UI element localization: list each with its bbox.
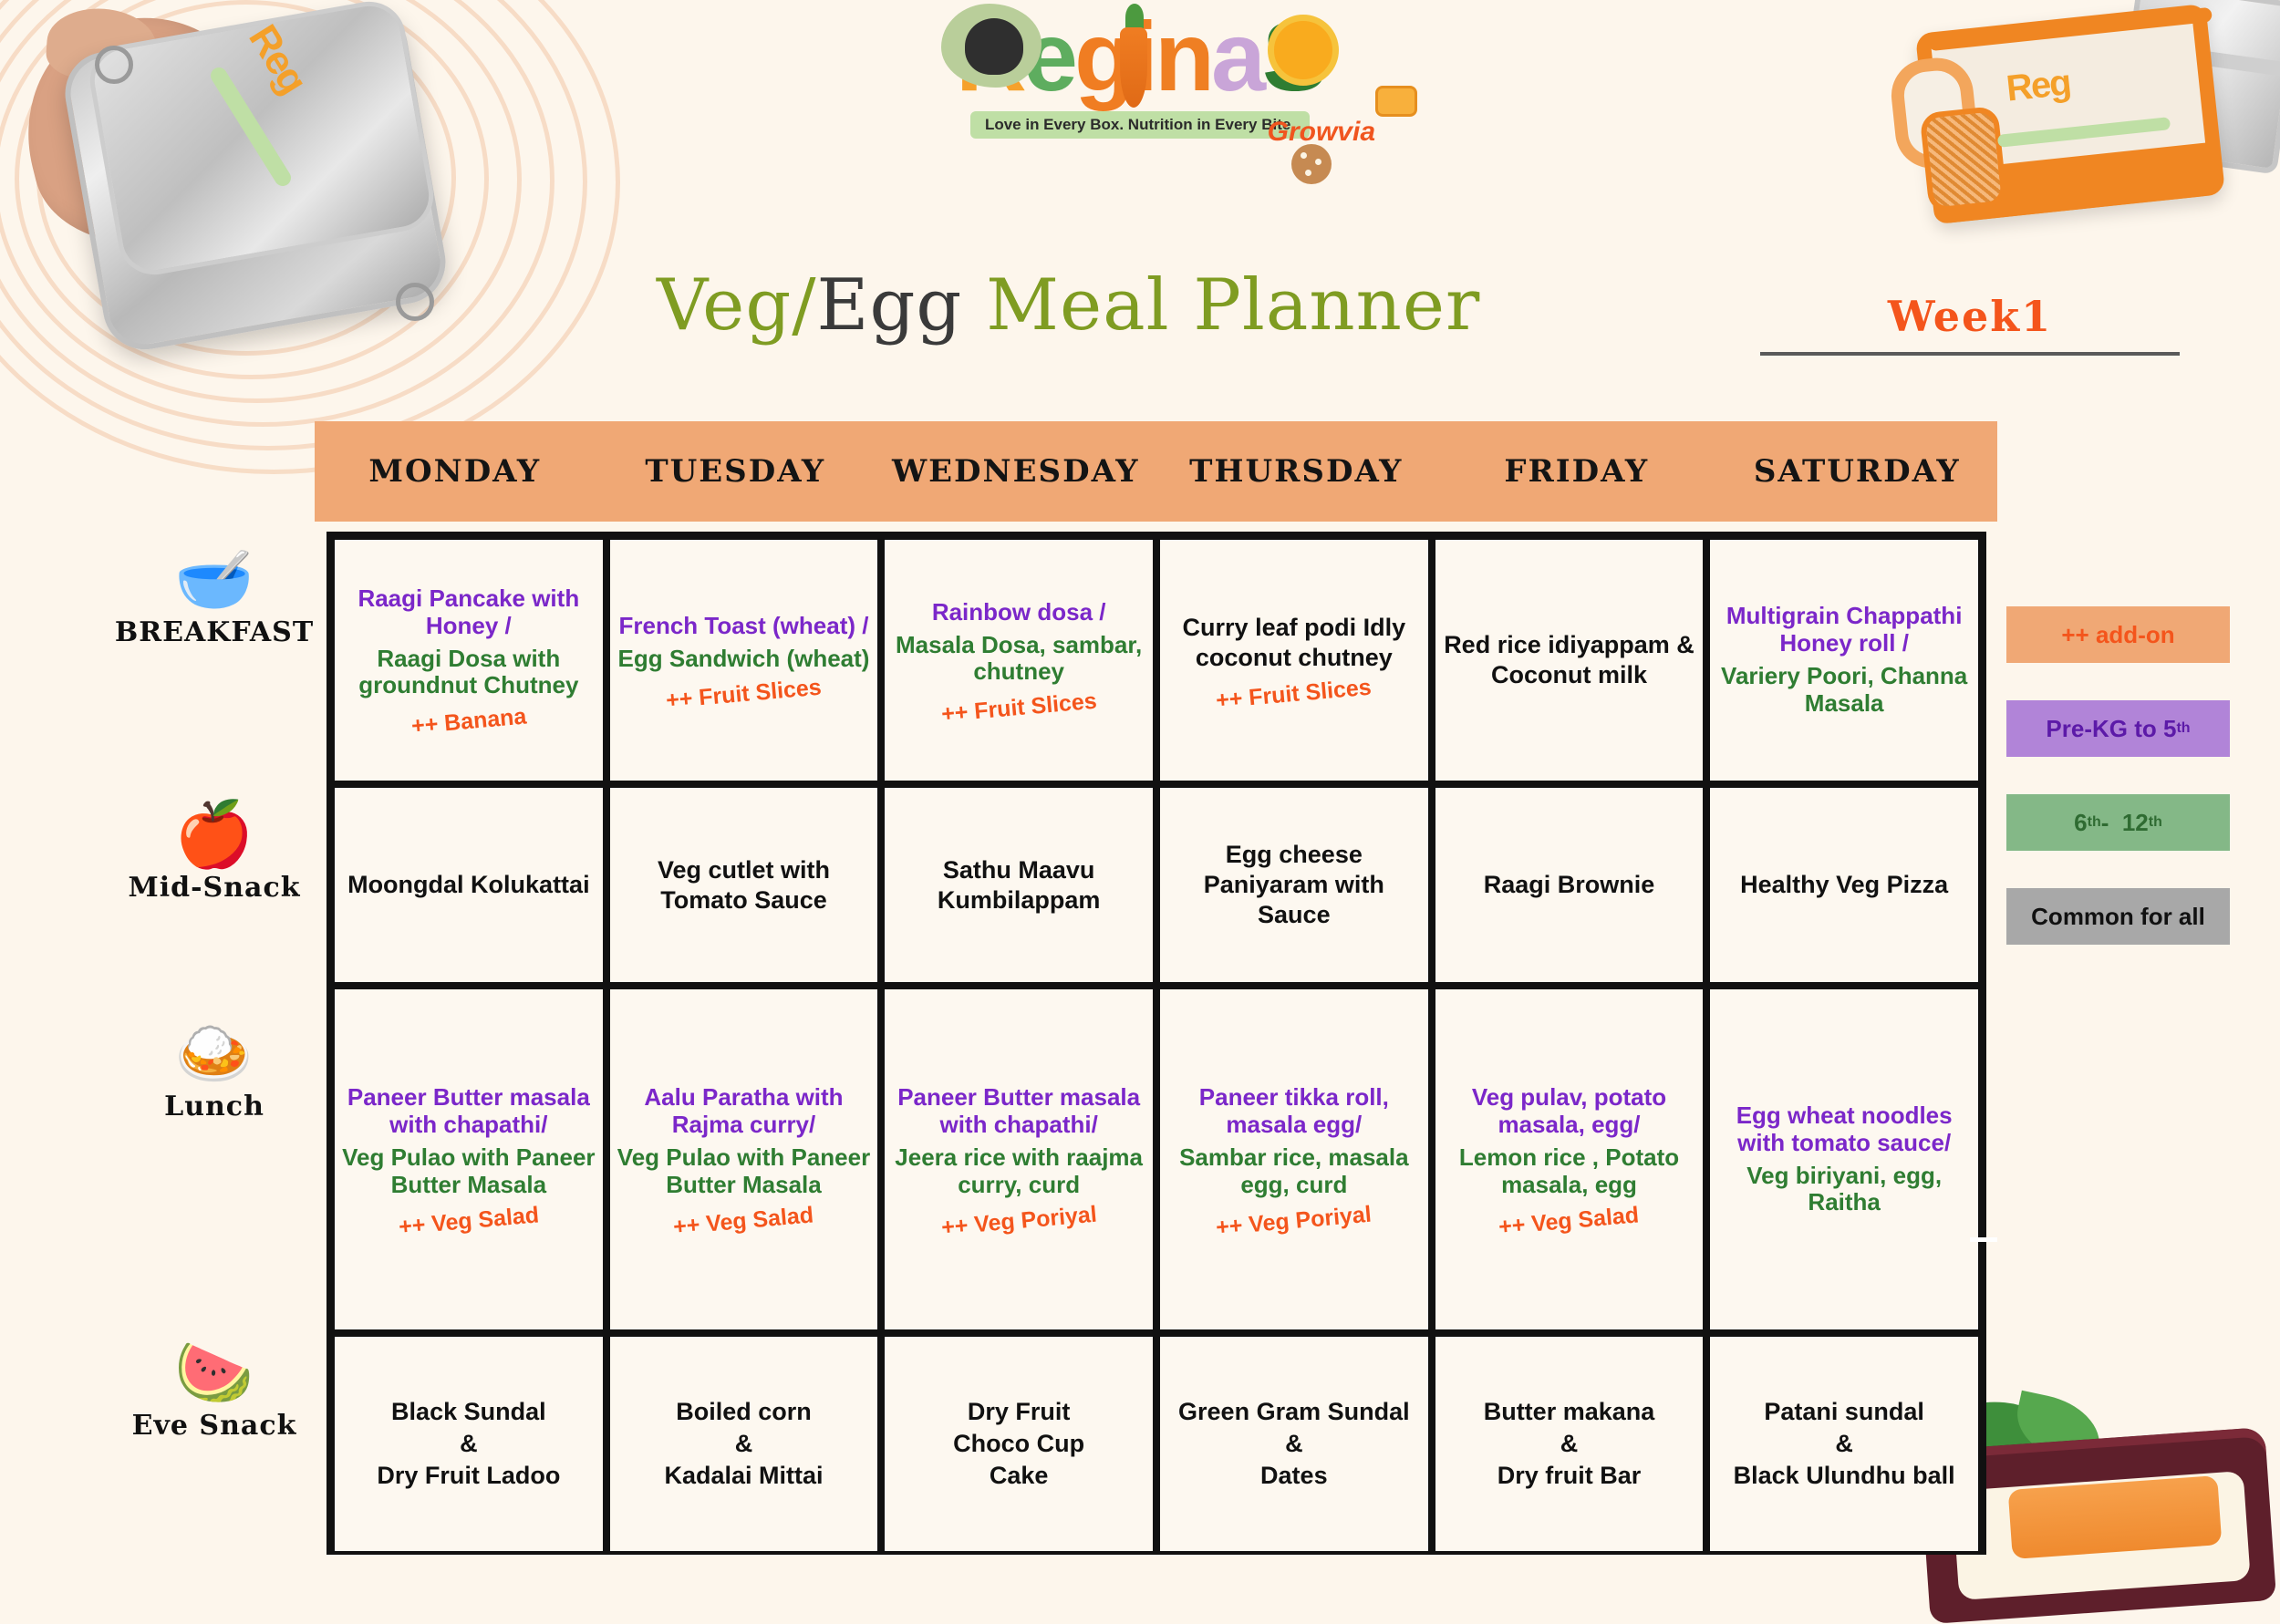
snack-line-2: &: [1560, 1428, 1579, 1460]
meal-addon: ++ Banana: [410, 704, 527, 740]
snack-line-3: Dry Fruit Ladoo: [377, 1460, 560, 1492]
cell-midsnack-thursday[interactable]: Egg cheese Paniyaram with Sauce: [1156, 784, 1432, 986]
legend-panel: ++ add-on Pre-KG to 5th 6th - 12th Commo…: [2006, 606, 2230, 982]
orange-slice-icon: [1268, 15, 1339, 86]
hand-holding-box: [3, 0, 279, 271]
snack-line-3: Cake: [990, 1460, 1049, 1492]
day-header-tuesday: TUESDAY: [596, 421, 876, 522]
steel-lunchbox-lid: [85, 0, 440, 280]
bag-mesh-pocket: [1919, 106, 2007, 213]
title-veg: Veg/: [657, 264, 817, 347]
cell-lunch-thursday[interactable]: Paneer tikka roll, masala egg/Sambar ric…: [1156, 986, 1432, 1333]
meal-common: Moongdal Kolukattai: [347, 870, 590, 900]
snack-line-1: Patani sundal: [1764, 1396, 1924, 1428]
cell-lunch-tuesday[interactable]: Aalu Paratha with Rajma curry/Veg Pulao …: [606, 986, 882, 1333]
cell-evesnack-friday[interactable]: Butter makana&Dry fruit Bar: [1432, 1333, 1707, 1555]
cell-midsnack-tuesday[interactable]: Veg cutlet with Tomato Sauce: [606, 784, 882, 986]
bowl-food: [2008, 1475, 2223, 1559]
snack-line-3: Dates: [1260, 1460, 1328, 1492]
cell-breakfast-thursday[interactable]: Curry leaf podi Idly coconut chutney++ F…: [1156, 536, 1432, 784]
snack-line-1: Dry Fruit: [968, 1396, 1071, 1428]
week-underline: [1760, 352, 2180, 356]
meal-option-a: Veg pulav, potato masala, egg/: [1441, 1084, 1698, 1139]
meal-option-b: Masala Dosa, sambar, chutney: [890, 632, 1147, 687]
lunch-plate-icon: 🍛: [109, 1021, 319, 1085]
meal-option-b: Lemon rice , Potato masala, egg: [1441, 1144, 1698, 1199]
row-label-breakfast: 🥣BREAKFAST: [109, 547, 319, 648]
meal-common: Sathu Maavu Kumbilappam: [890, 855, 1147, 915]
day-header-saturday: SATURDAY: [1717, 421, 1998, 522]
cell-evesnack-thursday[interactable]: Green Gram Sundal&Dates: [1156, 1333, 1432, 1555]
steel-lunchbox-body: [58, 0, 452, 356]
legend-item-6to12: 6th - 12th: [2006, 794, 2230, 851]
meal-option-a: Rainbow dosa /: [932, 599, 1106, 626]
row-label-mid-snack: 🍎Mid-Snack: [109, 802, 319, 904]
meal-option-b: Jeera rice with raajma curry, curd: [890, 1144, 1147, 1199]
snack-line-2: &: [1285, 1428, 1303, 1460]
fruits-icon: 🍉: [109, 1340, 319, 1404]
carrot-icon: [1120, 27, 1147, 108]
meal-common: Raagi Brownie: [1484, 870, 1655, 900]
breakfast-bowl-icon: 🥣: [109, 547, 319, 611]
row-label-eve-snack: 🍉Eve Snack: [109, 1340, 319, 1442]
meal-option-b: Variery Poori, Channa Masala: [1715, 663, 1973, 718]
family-blob-icon: [941, 4, 1042, 88]
snack-line-1: Butter makana: [1484, 1396, 1655, 1428]
snack-line-3: Kadalai Mittai: [664, 1460, 823, 1492]
row-label-text: Mid-Snack: [109, 872, 319, 904]
cell-breakfast-wednesday[interactable]: Rainbow dosa /Masala Dosa, sambar, chutn…: [881, 536, 1156, 784]
meal-option-a: Raagi Pancake with Honey /: [340, 585, 597, 640]
cell-lunch-monday[interactable]: Paneer Butter masala with chapathi/Veg P…: [331, 986, 606, 1333]
snack-line-1: Black Sundal: [391, 1396, 546, 1428]
cell-lunch-friday[interactable]: Veg pulav, potato masala, egg/Lemon rice…: [1432, 986, 1707, 1333]
meal-addon: ++ Fruit Slices: [940, 688, 1098, 729]
meal-common: Egg cheese Paniyaram with Sauce: [1166, 840, 1423, 930]
meal-option-b: Egg Sandwich (wheat): [618, 646, 870, 673]
week-selector[interactable]: Week1: [1760, 292, 2180, 356]
leaf-decor-2: [2009, 1391, 2108, 1468]
week-label: Week1: [1760, 292, 2180, 341]
legend-item-prekg: Pre-KG to 5th: [2006, 700, 2230, 757]
snack-line-3: Black Ulundhu ball: [1734, 1460, 1955, 1492]
meal-option-a: Paneer tikka roll, masala egg/: [1166, 1084, 1423, 1139]
legend-item-addon: ++ add-on: [2006, 606, 2230, 663]
snack-line-2: &: [735, 1428, 753, 1460]
meal-addon: ++ Veg Poriyal: [1215, 1201, 1373, 1241]
steel-tiffin: [2114, 0, 2280, 175]
cell-evesnack-wednesday[interactable]: Dry FruitChoco CupCake: [881, 1333, 1156, 1555]
meal-common: Curry leaf podi Idly coconut chutney: [1166, 613, 1423, 673]
meal-addon: ++ Veg Salad: [1498, 1202, 1640, 1240]
cell-breakfast-monday[interactable]: Raagi Pancake with Honey /Raagi Dosa wit…: [331, 536, 606, 784]
cell-breakfast-saturday[interactable]: Multigrain Chappathi Honey roll /Variery…: [1706, 536, 1982, 784]
row-label-text: Eve Snack: [109, 1410, 319, 1442]
cell-midsnack-friday[interactable]: Raagi Brownie: [1432, 784, 1707, 986]
bag-zipper: [1928, 7, 2213, 52]
snack-line-1: Green Gram Sundal: [1178, 1396, 1410, 1428]
cell-lunch-wednesday[interactable]: Paneer Butter masala with chapathi/Jeera…: [881, 986, 1156, 1333]
cell-midsnack-saturday[interactable]: Healthy Veg Pizza: [1706, 784, 1982, 986]
box-tagline-strip: [208, 65, 295, 190]
bag-handle: [1888, 55, 1981, 172]
day-header-friday: FRIDAY: [1436, 421, 1717, 522]
day-header-band: MONDAYTUESDAYWEDNESDAYTHURSDAYFRIDAYSATU…: [315, 421, 1997, 522]
bag-bottom-panel: [1930, 142, 2216, 224]
meal-addon: ++ Veg Poriyal: [940, 1201, 1098, 1241]
snack-line-2: &: [460, 1428, 478, 1460]
legend-item-common: Common for all: [2006, 888, 2230, 945]
meal-option-b: Raagi Dosa with groundnut Chutney: [340, 646, 597, 700]
meal-common: Healthy Veg Pizza: [1740, 870, 1948, 900]
cell-midsnack-monday[interactable]: Moongdal Kolukattai: [331, 784, 606, 986]
bag-tagline-strip: [1997, 117, 2171, 148]
meal-option-a: French Toast (wheat) /: [618, 613, 868, 640]
box-brand-logo: Reg: [143, 19, 376, 264]
title-egg: Egg: [817, 264, 963, 347]
snack-line-2: &: [1835, 1428, 1853, 1460]
page-title: Veg/Egg Meal Planner: [657, 264, 1480, 347]
cell-evesnack-monday[interactable]: Black Sundal&Dry Fruit Ladoo: [331, 1333, 606, 1555]
cell-evesnack-tuesday[interactable]: Boiled corn&Kadalai Mittai: [606, 1333, 882, 1555]
brand-logo: ReginaS Growvia Love in Every Box. Nutri…: [857, 7, 1423, 139]
meal-option-a: Aalu Paratha with Rajma curry/: [616, 1084, 873, 1139]
meal-common: Veg cutlet with Tomato Sauce: [616, 855, 873, 915]
row-label-text: Lunch: [109, 1091, 319, 1122]
lunch-bag-photo: Reg: [1888, 0, 2271, 264]
cell-evesnack-saturday[interactable]: Patani sundal&Black Ulundhu ball: [1706, 1333, 1982, 1555]
bowl-inner: [1952, 1471, 2251, 1600]
meal-addon: ++ Veg Salad: [672, 1202, 814, 1240]
cell-lunch-saturday[interactable]: Egg wheat noodles with tomato sauce/Veg …: [1706, 986, 1982, 1333]
meal-option-b: Sambar rice, masala egg, curd: [1166, 1144, 1423, 1199]
meal-option-a: Egg wheat noodles with tomato sauce/: [1715, 1102, 1973, 1157]
cell-breakfast-tuesday[interactable]: French Toast (wheat) /Egg Sandwich (whea…: [606, 536, 882, 784]
day-header-monday: MONDAY: [315, 421, 596, 522]
bag-brand-logo: Reg: [2005, 62, 2072, 109]
meal-addon: ++ Veg Salad: [398, 1202, 540, 1240]
lunch-bag-apple-icon: 🍎: [109, 802, 319, 866]
mini-lunchbox-icon: [1375, 86, 1417, 117]
meal-option-a: Multigrain Chappathi Honey roll /: [1715, 603, 1973, 657]
box-clasp-left: [95, 46, 133, 84]
legend-connector-dash: [1970, 1237, 1997, 1242]
meal-option-a: Paneer Butter masala with chapathi/: [340, 1084, 597, 1139]
meal-option-b: Veg Pulao with Paneer Butter Masala: [340, 1144, 597, 1199]
meal-common: Red rice idiyappam & Coconut milk: [1441, 630, 1698, 690]
box-clasp-right: [396, 283, 434, 321]
row-label-lunch: 🍛Lunch: [109, 1021, 319, 1122]
meal-addon: ++ Fruit Slices: [665, 675, 823, 715]
lunchbox-photo: Reg: [27, 9, 456, 410]
day-header-wednesday: WEDNESDAY: [876, 421, 1156, 522]
day-header-thursday: THURSDAY: [1156, 421, 1437, 522]
cell-midsnack-wednesday[interactable]: Sathu Maavu Kumbilappam: [881, 784, 1156, 986]
meal-option-b: Veg Pulao with Paneer Butter Masala: [616, 1144, 873, 1199]
bag-body: [1915, 4, 2225, 224]
meal-option-a: Paneer Butter masala with chapathi/: [890, 1084, 1147, 1139]
meal-addon: ++ Fruit Slices: [1215, 675, 1373, 715]
snack-line-1: Boiled corn: [676, 1396, 812, 1428]
brand-subname: Growvia: [1268, 117, 1375, 148]
row-label-text: BREAKFAST: [109, 616, 319, 648]
meal-option-b: Veg biriyani, egg, Raitha: [1715, 1163, 1973, 1217]
snack-line-2: Choco Cup: [953, 1428, 1084, 1460]
cookie-icon: [1291, 144, 1332, 184]
meal-planner-grid: Raagi Pancake with Honey /Raagi Dosa wit…: [326, 532, 1986, 1555]
title-rest: Meal Planner: [962, 264, 1480, 347]
snack-line-3: Dry fruit Bar: [1498, 1460, 1642, 1492]
tiffin-band: [2127, 40, 2280, 77]
cell-breakfast-friday[interactable]: Red rice idiyappam & Coconut milk: [1432, 536, 1707, 784]
brand-tagline: Love in Every Box. Nutrition in Every Bi…: [970, 111, 1310, 139]
